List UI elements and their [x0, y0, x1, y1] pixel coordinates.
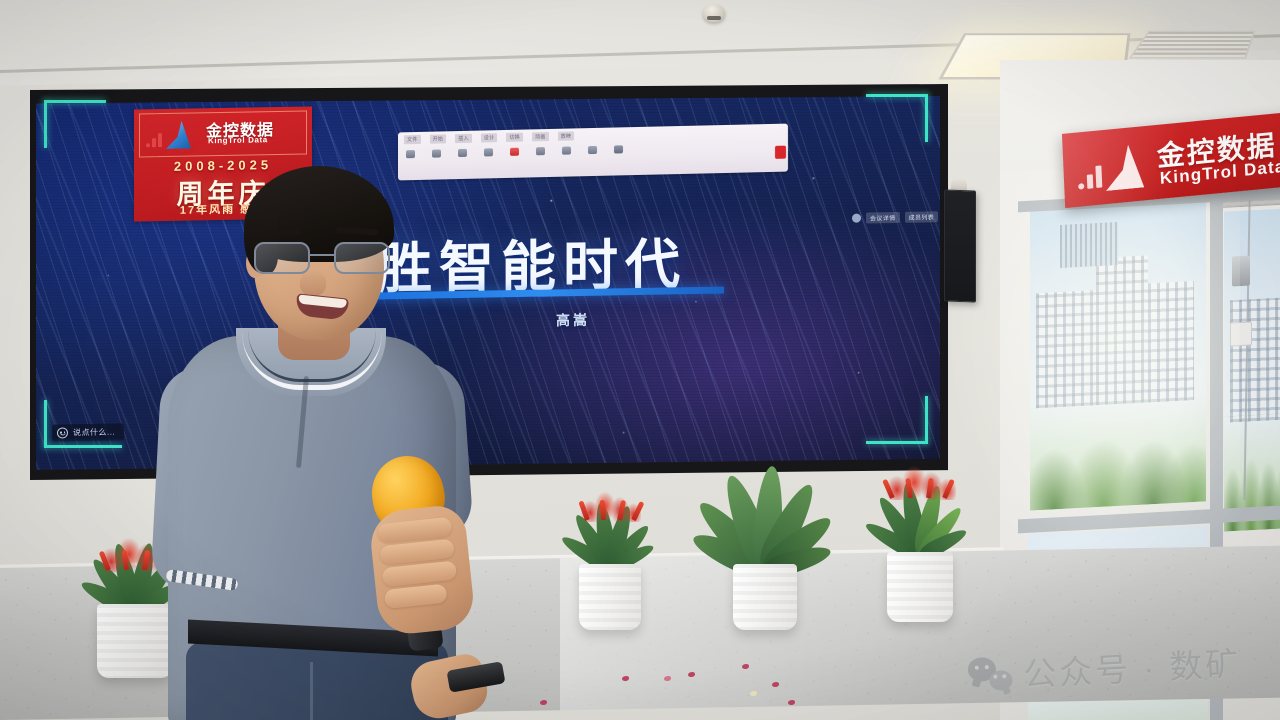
highlight-icon[interactable]: [510, 148, 519, 156]
ribbon-tab-6[interactable]: 放映: [558, 131, 575, 140]
image-icon[interactable]: [536, 147, 545, 155]
presenter-hand-holding-mic: [368, 503, 476, 636]
slide-corner-top-right: [866, 94, 928, 142]
ribbon-tab-5[interactable]: 动画: [532, 132, 549, 141]
window-view-city-right: [1224, 208, 1280, 423]
slide-corner-bottom-left: [44, 400, 106, 448]
logo-bars-icon: [146, 133, 162, 147]
ribbon-tab-3[interactable]: 设计: [481, 133, 498, 142]
finger: [384, 584, 448, 609]
glasses-lens-left: [254, 242, 310, 274]
video-icon[interactable]: [614, 145, 623, 153]
banner-logo-bars-icon: [1077, 165, 1102, 189]
slide-corner-bottom-right: [866, 396, 928, 444]
finger: [382, 560, 458, 587]
plant-pot: [733, 564, 797, 630]
building-3: [1148, 281, 1194, 402]
smoke-detector-icon: [703, 4, 725, 22]
flower-spike: [99, 551, 111, 571]
window-pane-upper-left: [1030, 201, 1206, 510]
window-view-city: [1030, 201, 1206, 408]
photo-scene: 金控数据 KingTrol Data 2008-2025 周年庆 17年风雨 感…: [0, 0, 1280, 720]
meeting-status-bar[interactable]: 会议详情 成员列表: [852, 211, 938, 224]
slide-speaker-name: 高嵩: [556, 310, 590, 331]
participant-icon: [852, 214, 861, 223]
plant-pot: [887, 552, 953, 622]
presenter: [150, 170, 510, 720]
ribbon-icon-row[interactable]: [406, 145, 623, 158]
plant-peace-lily: [690, 462, 840, 630]
wall-sensor-box: [1230, 321, 1252, 346]
poster-logo-en: KingTrol Data: [208, 135, 268, 145]
plant-bromeliad-center: [540, 480, 680, 630]
building-4: [1060, 222, 1118, 269]
air-vent-icon: [1129, 31, 1256, 59]
meeting-pill-details[interactable]: 会议详情: [866, 212, 900, 224]
building-1: [1036, 290, 1096, 408]
ribbon-tab-1[interactable]: 开始: [430, 134, 447, 143]
presenter-nose: [300, 270, 326, 296]
slide-corner-top-left: [44, 100, 106, 148]
window-latch[interactable]: [1232, 256, 1250, 287]
ribbon-tab-2[interactable]: 插入: [455, 134, 472, 143]
trouser-seam: [310, 662, 313, 720]
flower-spike: [926, 478, 934, 499]
logo-sail-icon: [166, 121, 191, 149]
kingtrol-logo-icon: [146, 120, 202, 149]
plant-bromeliad-right: [850, 462, 990, 622]
chart-icon[interactable]: [562, 146, 571, 154]
banner-logo-sail-icon: [1103, 143, 1145, 191]
banner-logo-icon: [1077, 143, 1149, 194]
wechat-icon: [967, 656, 1013, 692]
text-icon[interactable]: [484, 148, 493, 156]
flower-spike: [617, 500, 626, 521]
window-view-trees: [1030, 393, 1206, 510]
flower-spike: [578, 500, 590, 521]
wechat-bubble-small: [989, 670, 1013, 691]
flower-spike: [122, 550, 129, 570]
flower-spike: [142, 550, 150, 571]
flower-spike: [905, 478, 913, 499]
ribbon-tab-0[interactable]: 文件: [404, 135, 421, 144]
wall-speaker: [944, 189, 976, 302]
plant-pot: [579, 564, 641, 630]
flower-spike: [942, 479, 955, 499]
ribbon-tab-list[interactable]: 文件 开始 插入 设计 切换 动画 放映: [404, 131, 574, 144]
shape-icon[interactable]: [458, 149, 467, 157]
paste-icon[interactable]: [432, 149, 441, 157]
plant-flower-red: [579, 492, 641, 522]
meeting-pill-members[interactable]: 成员列表: [905, 211, 939, 223]
rec-button[interactable]: [775, 146, 786, 159]
table-icon[interactable]: [588, 146, 597, 154]
plant-leaves: [690, 464, 840, 570]
glasses-icon: [254, 242, 390, 276]
plant-flower-red: [884, 466, 956, 500]
glasses-bridge: [310, 254, 334, 256]
building-5: [1230, 297, 1280, 423]
cursor-icon[interactable]: [406, 150, 415, 158]
building-2: [1096, 256, 1148, 405]
glasses-lens-right: [334, 242, 390, 274]
flower-spike: [600, 500, 606, 520]
flower-spike: [882, 479, 895, 499]
ribbon-tab-4[interactable]: 切换: [506, 133, 523, 142]
